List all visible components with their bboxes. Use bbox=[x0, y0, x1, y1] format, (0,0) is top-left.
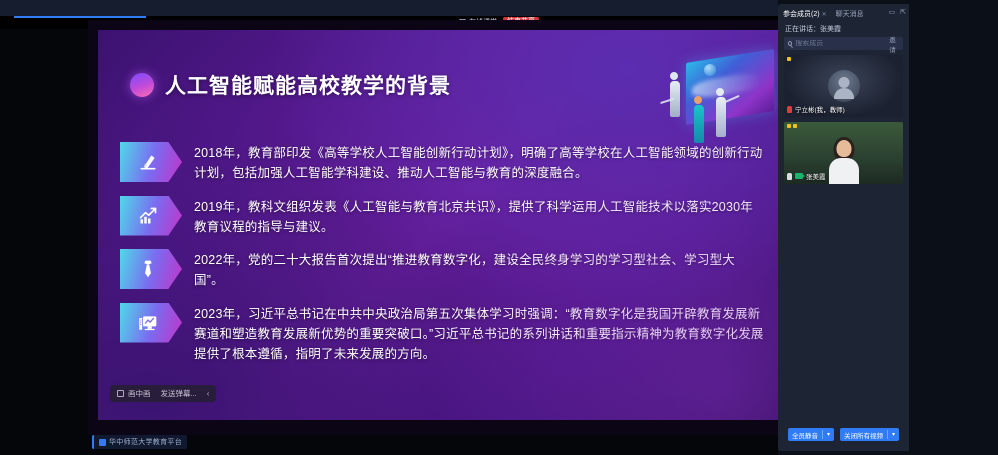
panel-window-controls: ▭ ⇱ bbox=[889, 8, 907, 16]
participant-tile[interactable]: 张美霞 bbox=[784, 122, 903, 184]
participant-tile[interactable]: 宁立彬(我，教师) bbox=[784, 55, 903, 117]
slide-bullet-item: 2023年，习近平总书记在中共中央政治局第五次集体学习时强调：“教育数字化是我国… bbox=[120, 303, 764, 364]
pip-label: 画中画 bbox=[128, 388, 151, 399]
necktie-icon bbox=[138, 259, 158, 279]
right-sidebar: 参会成员(2) ✕ 聊天消息 ▭ ⇱ 正在讲话：张美霞 邀请 bbox=[778, 0, 998, 455]
avatar bbox=[828, 70, 860, 102]
app-root: 在线课堂 在线课堂 结束共享 人工智能赋能高校教学的背景 bbox=[0, 0, 998, 455]
bullet-tag bbox=[120, 249, 182, 289]
slide-bullet-item: 2022年，党的二十大报告首次提出“推进教育数字化，建设全民终身学习的学习型社会… bbox=[120, 249, 764, 291]
growth-chart-icon bbox=[138, 206, 158, 226]
participants-panel: 参会成员(2) ✕ 聊天消息 ▭ ⇱ 正在讲话：张美霞 邀请 bbox=[778, 4, 909, 451]
illustration-robot-left-icon bbox=[670, 72, 680, 117]
bullet-tag bbox=[120, 196, 182, 236]
danmu-input[interactable]: 发送弹幕... bbox=[161, 388, 197, 399]
shared-screen-stage[interactable]: 人工智能赋能高校教学的背景 bbox=[88, 20, 778, 435]
search-icon bbox=[788, 41, 792, 46]
app-logo-icon bbox=[99, 439, 106, 446]
slide-title-row: 人工智能赋能高校教学的背景 bbox=[130, 70, 451, 100]
slide-bottom-toolbar: 画中画 发送弹幕... ‹ bbox=[110, 385, 216, 402]
mic-on-icon bbox=[787, 173, 792, 180]
camera-feed bbox=[827, 138, 861, 184]
pip-toggle[interactable]: 画中画 bbox=[117, 388, 151, 399]
host-flags bbox=[787, 124, 797, 128]
invite-button[interactable]: 邀请 bbox=[889, 34, 899, 54]
expand-icon[interactable]: ⇱ bbox=[900, 8, 906, 16]
bullet-text: 2019年，教科文组织发表《人工智能与教育北京共识》，提供了科学运用人工智能技术… bbox=[194, 196, 764, 238]
mute-all-label: 全员静音 bbox=[792, 430, 818, 440]
bullet-tag bbox=[120, 142, 182, 182]
search-input[interactable] bbox=[795, 40, 886, 47]
host-badge-icon bbox=[787, 124, 791, 128]
slide-bullet-item: 2019年，教科文组织发表《人工智能与教育北京共识》，提供了科学运用人工智能技术… bbox=[120, 196, 764, 238]
mute-all-button[interactable]: 全员静音 ▾ bbox=[788, 428, 834, 441]
panel-header: 参会成员(2) ✕ 聊天消息 ▭ ⇱ bbox=[778, 4, 909, 22]
bullet-text: 2018年，教育部印发《高等学校人工智能创新行动计划》，明确了高等学校在人工智能… bbox=[194, 142, 764, 184]
chevron-down-icon[interactable]: ▾ bbox=[892, 431, 895, 438]
danmu-label: 发送弹幕... bbox=[161, 388, 197, 399]
bullet-tag bbox=[120, 303, 182, 343]
panel-footer: 全员静音 ▾ 关闭所有视频 ▾ bbox=[778, 428, 909, 441]
participant-name: 宁立彬(我，教师) bbox=[795, 104, 845, 114]
picture-in-picture-icon bbox=[117, 390, 124, 397]
close-icon[interactable]: ✕ bbox=[822, 11, 827, 18]
panel-tabs: 参会成员(2) ✕ 聊天消息 bbox=[783, 9, 864, 19]
chevron-left-icon[interactable]: ‹ bbox=[207, 389, 210, 398]
minimize-icon[interactable]: ▭ bbox=[889, 8, 896, 16]
illustration-person-icon bbox=[694, 96, 704, 143]
chevron-down-icon[interactable]: ▾ bbox=[827, 431, 830, 438]
slide-illustration bbox=[658, 48, 778, 153]
mic-muted-icon bbox=[787, 106, 792, 113]
title-bullet-icon bbox=[130, 73, 154, 97]
watermark-bar: 华中师范大学教育平台 bbox=[92, 435, 187, 449]
stop-all-video-label: 关闭所有视频 bbox=[844, 430, 883, 440]
presentation-slide: 人工智能赋能高校教学的背景 bbox=[98, 30, 778, 420]
tab-chat[interactable]: 聊天消息 bbox=[836, 9, 864, 19]
participant-name: 张美霞 bbox=[806, 171, 826, 181]
video-on-icon bbox=[795, 173, 803, 179]
host-flags bbox=[787, 57, 791, 61]
rail-left-indicator bbox=[14, 16, 146, 18]
speaking-badge-icon bbox=[793, 124, 797, 128]
participant-label: 张美霞 bbox=[787, 171, 826, 181]
illustration-planet-icon bbox=[704, 64, 716, 76]
bullet-text: 2022年，党的二十大报告首次提出“推进教育数字化，建设全民终身学习的学习型社会… bbox=[194, 249, 764, 291]
tab-participants[interactable]: 参会成员(2) ✕ bbox=[783, 9, 827, 19]
search-container: 邀请 bbox=[778, 37, 909, 50]
pen-chart-icon bbox=[138, 152, 158, 172]
watermark-text: 华中师范大学教育平台 bbox=[109, 437, 182, 447]
stop-all-video-button[interactable]: 关闭所有视频 ▾ bbox=[840, 428, 899, 441]
participant-label: 宁立彬(我，教师) bbox=[787, 104, 845, 114]
slide-bullet-item: 2018年，教育部印发《高等学校人工智能创新行动计划》，明确了高等学校在人工智能… bbox=[120, 142, 764, 184]
slide-bullet-list: 2018年，教育部印发《高等学校人工智能创新行动计划》，明确了高等学校在人工智能… bbox=[120, 142, 764, 376]
slide-title: 人工智能赋能高校教学的背景 bbox=[165, 70, 451, 100]
bullet-text: 2023年，习近平总书记在中共中央政治局第五次集体学习时强调：“教育数字化是我国… bbox=[194, 303, 764, 364]
illustration-robot-right-icon bbox=[716, 88, 726, 137]
tab-participants-label: 参会成员(2) bbox=[783, 9, 820, 19]
search-bar[interactable]: 邀请 bbox=[784, 37, 903, 50]
tab-chat-label: 聊天消息 bbox=[836, 9, 864, 19]
host-badge-icon bbox=[787, 57, 791, 61]
monitor-chart-icon bbox=[138, 313, 158, 333]
